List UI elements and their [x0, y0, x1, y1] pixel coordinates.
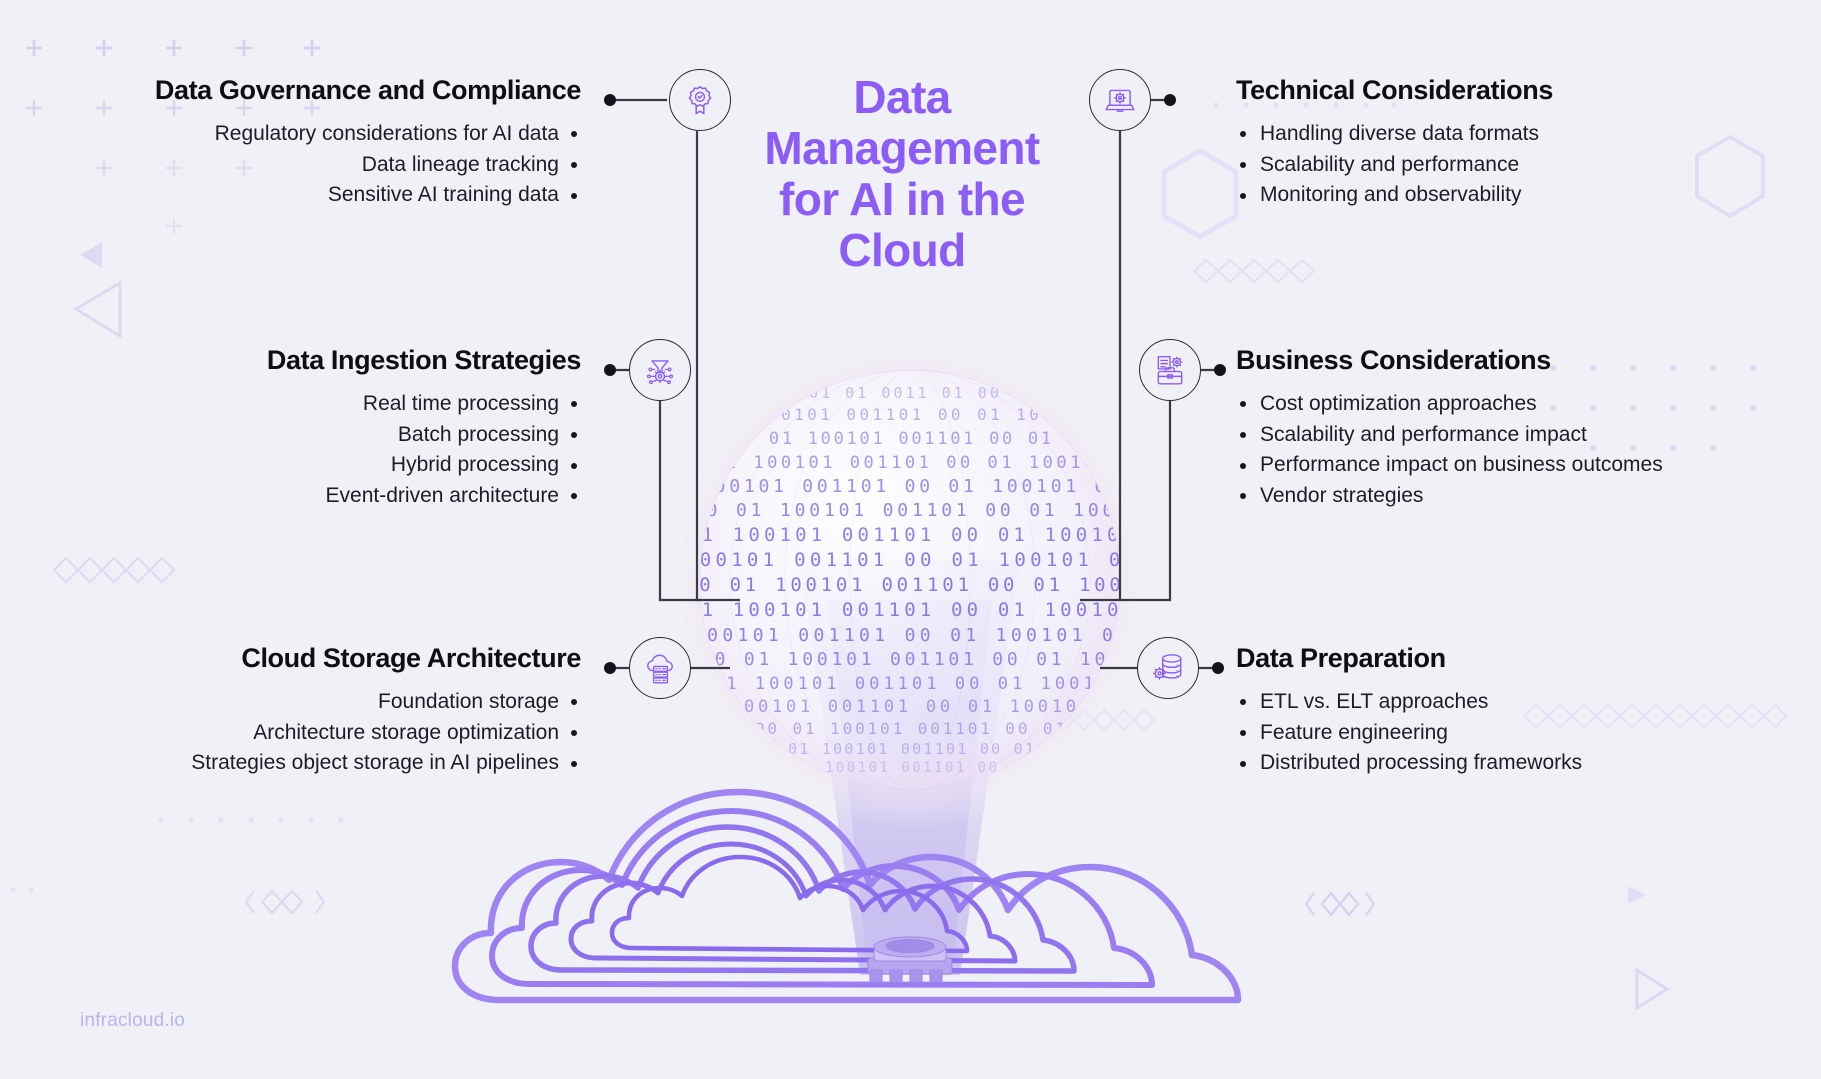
section-title: Business Considerations — [1236, 345, 1663, 376]
badge-certificate-icon-circle[interactable] — [669, 69, 731, 131]
list-item: ETL vs. ELT approaches — [1236, 687, 1582, 718]
list-item: Data lineage tracking — [155, 150, 581, 181]
section-technical-considerations: Technical Considerations Handling divers… — [1236, 75, 1553, 211]
database-gear-icon — [1151, 651, 1185, 685]
list-item: Performance impact on business outcomes — [1236, 450, 1663, 481]
section-list: Foundation storage Architecture storage … — [191, 687, 581, 779]
laptop-gear-icon — [1103, 83, 1137, 117]
list-item: Scalability and performance impact — [1236, 420, 1663, 451]
briefcase-gear-icon — [1153, 353, 1187, 387]
watermark: infracloud.io — [80, 1010, 185, 1032]
list-item: Feature engineering — [1236, 718, 1582, 749]
list-item: Scalability and performance — [1236, 150, 1553, 181]
section-cloud-storage-architecture: Cloud Storage Architecture Foundation st… — [191, 643, 581, 779]
section-list: Regulatory considerations for AI data Da… — [155, 119, 581, 211]
section-list: Real time processing Batch processing Hy… — [267, 389, 581, 512]
briefcase-gear-icon-circle[interactable] — [1139, 339, 1201, 401]
section-title: Data Preparation — [1236, 643, 1582, 674]
list-item: Batch processing — [267, 420, 581, 451]
section-business-considerations: Business Considerations Cost optimizatio… — [1236, 345, 1663, 512]
laptop-gear-icon-circle[interactable] — [1089, 69, 1151, 131]
section-list: Cost optimization approaches Scalability… — [1236, 389, 1663, 512]
section-list: ETL vs. ELT approaches Feature engineeri… — [1236, 687, 1582, 779]
title-line-2: Management — [712, 123, 1092, 174]
list-item: Event-driven architecture — [267, 481, 581, 512]
list-item: Architecture storage optimization — [191, 718, 581, 749]
title-line-3: for AI in the — [712, 174, 1092, 225]
list-item: Strategies object storage in AI pipeline… — [191, 748, 581, 779]
badge-certificate-icon — [683, 83, 717, 117]
title-line-1: Data — [712, 72, 1092, 123]
section-title: Data Ingestion Strategies — [267, 345, 581, 376]
list-item: Handling diverse data formats — [1236, 119, 1553, 150]
section-data-preparation: Data Preparation ETL vs. ELT approaches … — [1236, 643, 1582, 779]
section-data-governance-and-compliance: Data Governance and Compliance Regulator… — [155, 75, 581, 211]
list-item: Distributed processing frameworks — [1236, 748, 1582, 779]
database-gear-icon-circle[interactable] — [1137, 637, 1199, 699]
list-item: Sensitive AI training data — [155, 180, 581, 211]
section-title: Cloud Storage Architecture — [191, 643, 581, 674]
section-title: Technical Considerations — [1236, 75, 1553, 106]
title-line-4: Cloud — [712, 225, 1092, 276]
list-item: Foundation storage — [191, 687, 581, 718]
section-list: Handling diverse data formats Scalabilit… — [1236, 119, 1553, 211]
list-item: Real time processing — [267, 389, 581, 420]
funnel-network-icon — [643, 353, 677, 387]
list-item: Hybrid processing — [267, 450, 581, 481]
cloud-server-icon-circle[interactable] — [629, 637, 691, 699]
list-item: Vendor strategies — [1236, 481, 1663, 512]
cloud-server-icon — [643, 651, 677, 685]
funnel-network-icon-circle[interactable] — [629, 339, 691, 401]
list-item: Monitoring and observability — [1236, 180, 1553, 211]
list-item: Regulatory considerations for AI data — [155, 119, 581, 150]
section-title: Data Governance and Compliance — [155, 75, 581, 106]
list-item: Cost optimization approaches — [1236, 389, 1663, 420]
page-title: Data Management for AI in the Cloud — [712, 72, 1092, 276]
section-data-ingestion-strategies: Data Ingestion Strategies Real time proc… — [267, 345, 581, 512]
infographic-canvas: 1001 01 0011 01 00 01 100101 001101 00 0… — [0, 0, 1821, 1079]
